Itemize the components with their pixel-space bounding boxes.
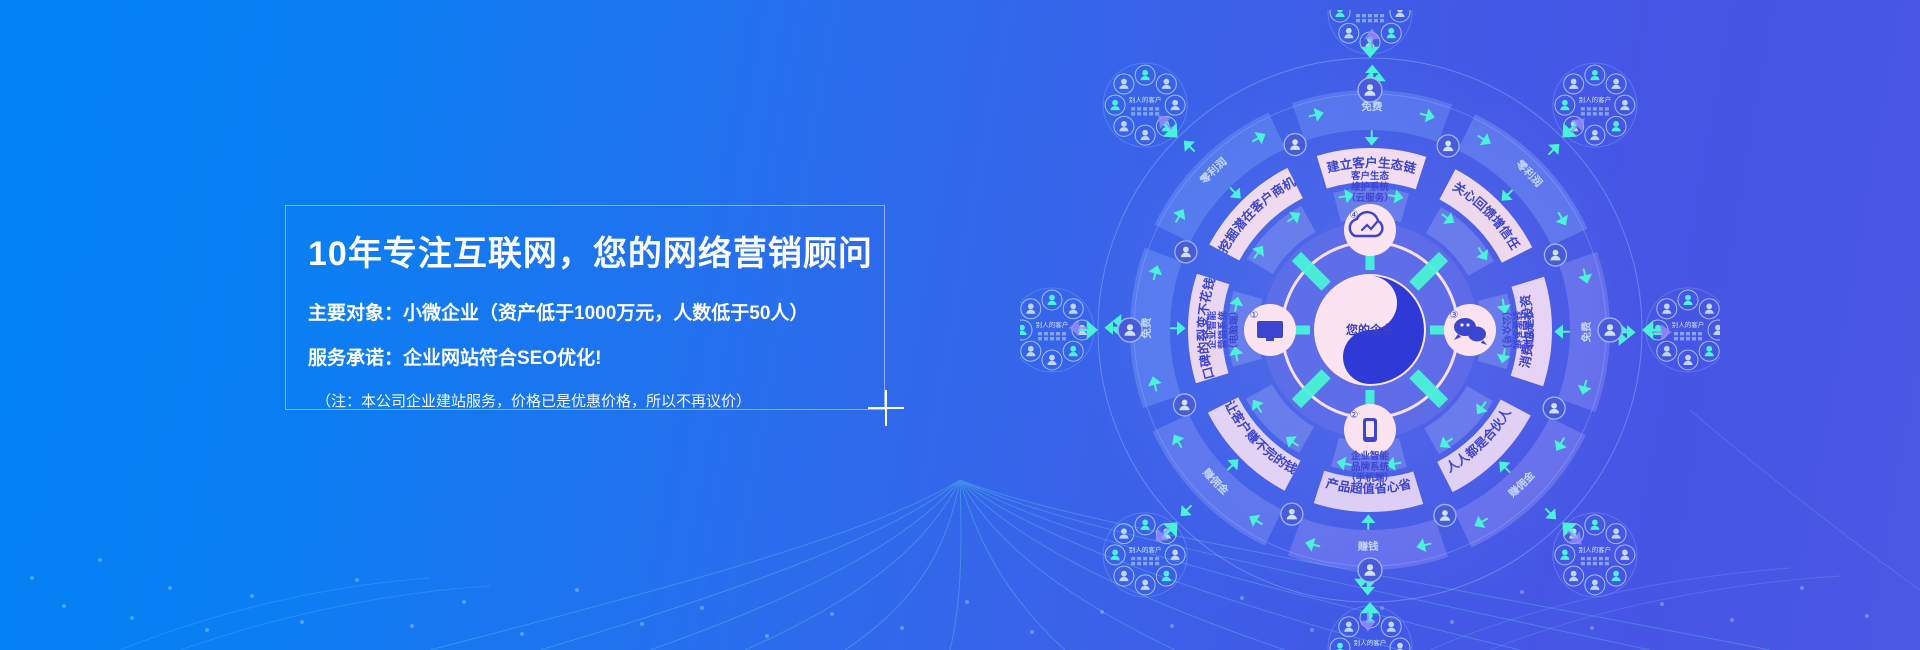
cluster-label: 别人的客户 xyxy=(1579,95,1612,104)
core-label: 您的企业 xyxy=(1346,322,1394,337)
person-node-icon xyxy=(1358,78,1382,102)
outer-ring-label: 免费 xyxy=(1361,100,1383,113)
satellite-node-1[interactable]: ① xyxy=(1244,304,1296,356)
satellite-label: 企业智能营销系统（电脑端） xyxy=(1206,306,1240,354)
satellite-label: 企业智能获客系统（公众号） xyxy=(1500,306,1534,354)
satellite-node-4[interactable]: ④ xyxy=(1344,204,1396,256)
node-number: ② xyxy=(1350,410,1359,421)
person-node-icon xyxy=(1284,134,1306,156)
person-node-icon xyxy=(1598,318,1622,342)
cluster-label: 别人的客户 xyxy=(1036,320,1069,329)
cluster-label: 别人的客户 xyxy=(1672,320,1705,329)
marketing-ecosystem-diagram: 别人的客户别人的客户别人的客户别人的客户别人的客户别人的客户别人的客户别人的客户… xyxy=(1020,10,1720,650)
person-node-icon xyxy=(1281,503,1303,525)
person-node-icon xyxy=(1543,397,1565,419)
cluster-label: 别人的客户 xyxy=(1129,545,1162,554)
person-node-icon xyxy=(1434,504,1456,526)
outer-ring-label: 免费 xyxy=(1140,317,1153,339)
page-title: 10年专注互联网，您的网络营销顾问 xyxy=(308,234,866,275)
person-node-icon xyxy=(1437,135,1459,157)
satellite-label: 企业智能品牌系统（手机端） xyxy=(1346,450,1394,484)
cluster-label: 别人的客户 xyxy=(1354,10,1387,11)
outer-ring-label: 赚钱 xyxy=(1356,540,1379,553)
text-card: 10年专注互联网，您的网络营销顾问 主要对象：小微企业（资产低于1000万元，人… xyxy=(285,205,885,410)
satellite-node-3[interactable]: ③ xyxy=(1444,304,1496,356)
satellite-label: 客户生态维护系统（云服务） xyxy=(1346,170,1394,204)
satellite-node-2[interactable]: ② xyxy=(1344,404,1396,456)
cluster-label: 别人的客户 xyxy=(1129,95,1162,104)
price-note: （注：本公司企业建站服务，价格已是优惠价格，所以不再议价） xyxy=(308,392,866,412)
service-promise-line: 服务承诺：企业网站符合SEO优化! xyxy=(308,346,866,372)
person-node-icon xyxy=(1358,558,1382,582)
person-node-icon xyxy=(1175,241,1197,263)
person-node-icon xyxy=(1118,318,1142,342)
person-node-icon xyxy=(1544,244,1566,266)
cluster-label: 别人的客户 xyxy=(1579,545,1612,554)
cluster-label: 别人的客户 xyxy=(1354,638,1387,647)
node-number: ③ xyxy=(1450,310,1459,321)
target-audience-line: 主要对象：小微企业（资产低于1000万元，人数低于50人） xyxy=(308,301,866,327)
node-number: ① xyxy=(1250,310,1259,321)
person-node-icon xyxy=(1174,394,1196,416)
outer-ring-label: 免费 xyxy=(1580,321,1593,343)
hero-banner: 10年专注互联网，您的网络营销顾问 主要对象：小微企业（资产低于1000万元，人… xyxy=(0,0,1920,650)
